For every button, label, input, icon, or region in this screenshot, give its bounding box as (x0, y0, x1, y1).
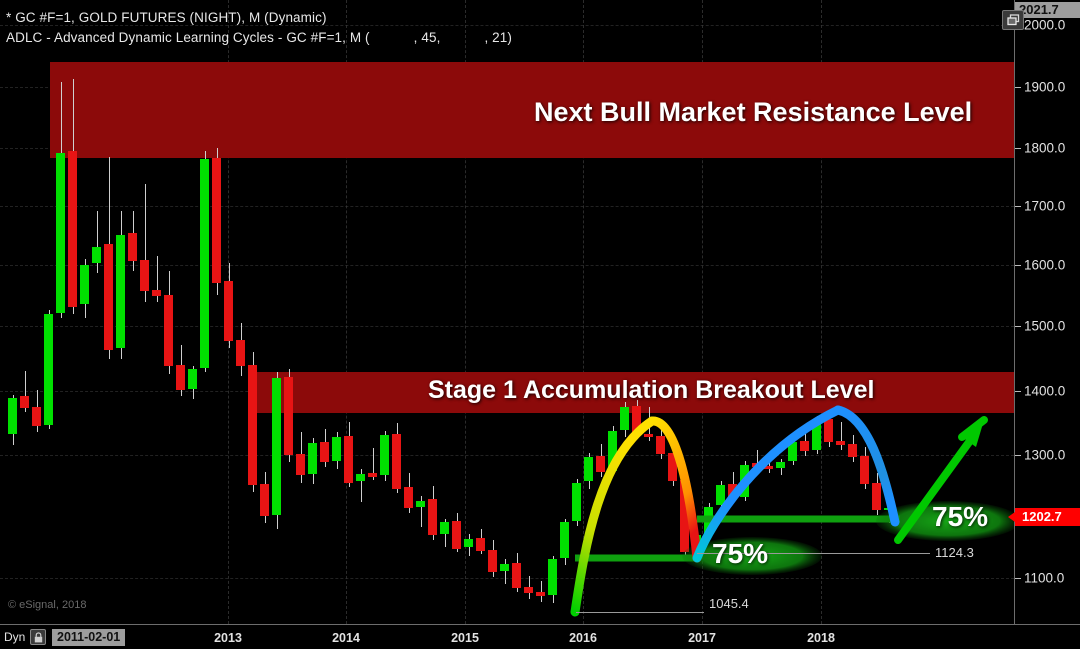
candle-body (20, 396, 29, 408)
candle-body (680, 480, 689, 552)
candle-body (572, 483, 581, 521)
candle-body (872, 483, 881, 511)
time-axis[interactable]: Dyn 2011-02-01 201320142015201620172018 (0, 624, 1080, 649)
candle-body (80, 265, 89, 304)
candle-body (404, 487, 413, 507)
candle-body (284, 377, 293, 455)
price-tag-line-1045 (576, 612, 704, 613)
price-tick-mark (1015, 455, 1021, 456)
candle-body (860, 456, 869, 484)
candle-body (752, 463, 761, 467)
candle-body (584, 457, 593, 481)
price-axis-top-value: 2021.7 (1015, 2, 1080, 18)
candle-body (308, 443, 317, 474)
candle-body (116, 235, 125, 349)
candle-body (836, 441, 845, 446)
price-tick-mark (1015, 391, 1021, 392)
candle-body (44, 314, 53, 425)
price-tick-label: 1600.0 (1024, 258, 1065, 273)
price-tick-label: 1500.0 (1024, 319, 1065, 334)
candle-wick (841, 422, 842, 451)
candle-body (332, 437, 341, 461)
candle-body (248, 365, 257, 485)
candle-body (176, 365, 185, 390)
candle-wick (505, 559, 506, 584)
restore-glyph (1007, 14, 1020, 26)
candle-body (152, 290, 161, 296)
candle-body (740, 465, 749, 497)
breakout-zone-label: Stage 1 Accumulation Breakout Level (428, 376, 874, 405)
price-axis[interactable]: 2000.01900.01800.01700.01600.01500.01400… (1014, 0, 1080, 624)
candle-body (644, 434, 653, 438)
candle-body (632, 406, 641, 435)
candle-body (68, 151, 77, 307)
candle-body (188, 369, 197, 389)
candle-body (764, 466, 773, 470)
left-retrace-percent: 75% (712, 538, 768, 570)
time-tick-label: 2018 (807, 631, 835, 645)
price-tick-label: 1300.0 (1024, 448, 1065, 463)
price-tick-label: 1700.0 (1024, 199, 1065, 214)
candle-body (104, 244, 113, 350)
candle-body (452, 521, 461, 549)
candle-body (560, 522, 569, 558)
candle-body (800, 441, 809, 452)
candle-body (476, 538, 485, 551)
candle-body (884, 508, 893, 510)
candle-body (524, 587, 533, 593)
candle-body (260, 484, 269, 516)
candle-body (416, 501, 425, 507)
candle-body (596, 456, 605, 472)
time-tick-label: 2016 (569, 631, 597, 645)
candle-body (704, 507, 713, 535)
candle-wick (769, 456, 770, 473)
candle-body (140, 260, 149, 291)
price-tick-label: 2000.0 (1024, 18, 1065, 33)
candle-wick (757, 450, 758, 472)
candle-body (608, 431, 617, 471)
time-tick-label: 2017 (688, 631, 716, 645)
candle-body (368, 473, 377, 477)
price-tag-label-1124: 1124.3 (935, 545, 974, 560)
candle-body (380, 435, 389, 476)
chart-application: 1045.4 1124.3 Next Bull Market Resistanc… (0, 0, 1080, 649)
restore-window-icon[interactable] (1002, 10, 1024, 30)
price-tick-mark (1015, 326, 1021, 327)
candle-body (488, 550, 497, 573)
candle-body (296, 454, 305, 476)
right-retrace-percent: 75% (932, 501, 988, 533)
time-tick-label: 2013 (214, 631, 242, 645)
candle-body (548, 559, 557, 595)
candle-body (128, 233, 137, 261)
candle-body (356, 474, 365, 481)
candle-body (620, 407, 629, 430)
lock-icon[interactable] (30, 629, 46, 645)
candle-body (200, 159, 209, 367)
candle-body (848, 444, 857, 457)
candle-body (464, 539, 473, 547)
time-tick-label: 2014 (332, 631, 360, 645)
candle-body (812, 420, 821, 450)
last-price-badge: 1202.7 (1015, 508, 1080, 526)
time-tick-label: 2015 (451, 631, 479, 645)
candle-body (164, 295, 173, 367)
candle-body (428, 499, 437, 535)
candle-body (824, 419, 833, 442)
candle-body (212, 158, 221, 283)
candle-body (344, 436, 353, 483)
start-date-badge: 2011-02-01 (52, 629, 125, 646)
candle-body (236, 340, 245, 366)
price-tick-label: 1400.0 (1024, 384, 1065, 399)
candle-body (692, 535, 701, 551)
price-tick-mark (1015, 87, 1021, 88)
candle-body (56, 153, 65, 312)
chart-plot-area[interactable]: 1045.4 1124.3 Next Bull Market Resistanc… (0, 0, 1014, 624)
candle-body (656, 436, 665, 454)
candle-body (728, 484, 737, 498)
candle-body (536, 592, 545, 597)
candle-body (788, 442, 797, 461)
price-tag-label-1045: 1045.4 (709, 596, 749, 611)
candle-body (92, 247, 101, 264)
candle-wick (97, 211, 98, 273)
candle-body (500, 564, 509, 571)
candlestick-series (0, 0, 1014, 624)
candle-body (716, 485, 725, 505)
lock-glyph (34, 632, 43, 643)
candle-body (440, 522, 449, 534)
price-tick-label: 1100.0 (1024, 571, 1064, 586)
candle-body (320, 442, 329, 462)
price-tick-mark (1015, 206, 1021, 207)
candle-body (512, 563, 521, 588)
candle-body (224, 281, 233, 341)
resistance-zone-label: Next Bull Market Resistance Level (534, 97, 972, 128)
dyn-label: Dyn (4, 630, 25, 644)
price-tick-mark (1015, 265, 1021, 266)
price-tick-mark (1015, 148, 1021, 149)
candle-body (272, 378, 281, 515)
candle-body (8, 398, 17, 434)
price-tick-label: 1900.0 (1024, 80, 1065, 95)
copyright-text: © eSignal, 2018 (8, 599, 86, 611)
price-tick-mark (1015, 578, 1021, 579)
price-tick-label: 1800.0 (1024, 141, 1065, 156)
candle-body (668, 453, 677, 482)
candle-body (776, 462, 785, 468)
candle-body (392, 434, 401, 489)
candle-body (32, 407, 41, 426)
